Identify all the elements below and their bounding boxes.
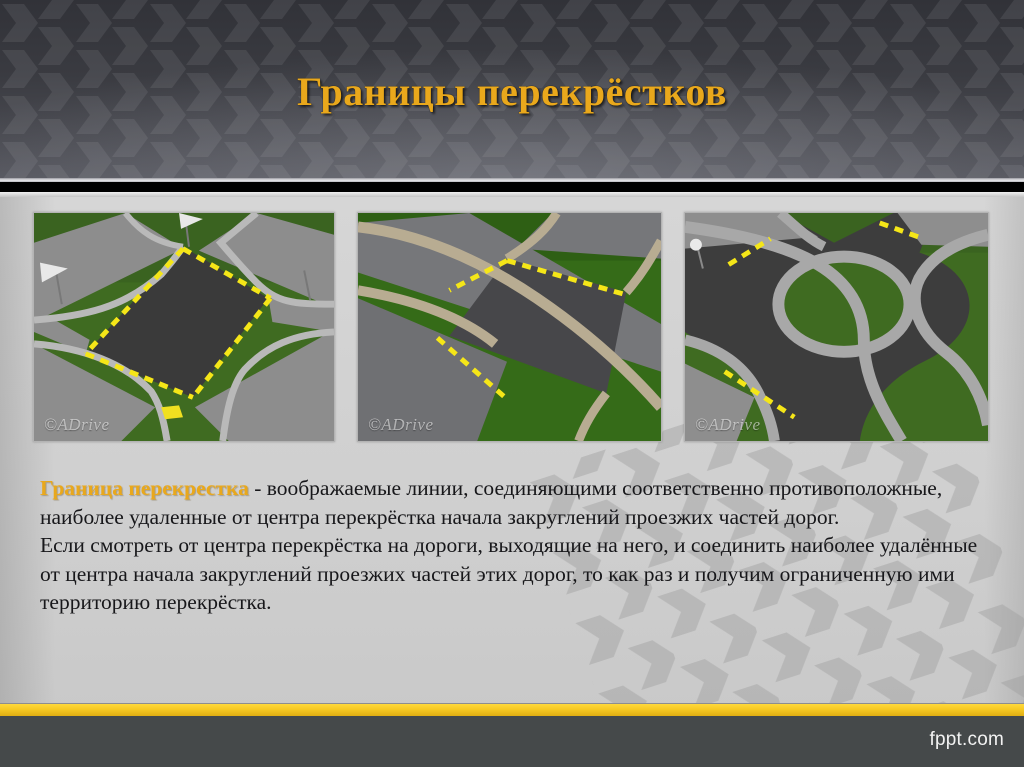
illustration-panels: ©ADrive <box>0 212 1024 442</box>
slide-body-text: Граница перекрестка - воображаемые линии… <box>40 474 980 617</box>
header-separator-black <box>0 182 1024 192</box>
page-title: Границы перекрёстков <box>0 68 1024 115</box>
slide-header: Границы перекрёстков <box>0 0 1024 180</box>
footer-bar: fppt.com <box>0 716 1024 767</box>
slide-root: Границы перекрёстков <box>0 0 1024 767</box>
footer-gold-stripe <box>0 703 1024 716</box>
explanation-paragraph: Если смотреть от центра перекрёстка на д… <box>40 531 980 617</box>
panel-roundabout[interactable]: ©ADrive <box>684 212 989 442</box>
panel-t-junction[interactable]: ©ADrive <box>357 212 662 442</box>
panel-four-way-intersection[interactable]: ©ADrive <box>33 212 335 442</box>
definition-paragraph: Граница перекрестка - воображаемые линии… <box>40 474 980 531</box>
footer-brand: fppt.com <box>930 729 1004 751</box>
highlighted-term: Граница перекрестка <box>40 476 249 500</box>
header-separator-light-bottom <box>0 192 1024 197</box>
